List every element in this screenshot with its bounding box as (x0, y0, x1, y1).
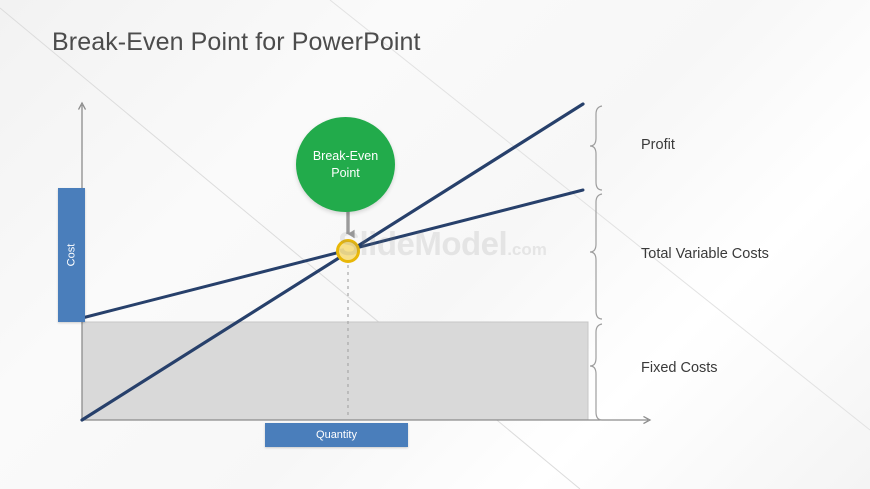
watermark-suffix: .com (507, 240, 547, 259)
x-axis-label: Quantity (316, 429, 357, 441)
watermark-text: SlideModel (338, 225, 507, 262)
callout-line-2: Point (331, 166, 360, 180)
y-axis-label: Cost (66, 244, 78, 267)
x-axis-label-bar: Quantity (265, 423, 408, 447)
bracket-profit (590, 106, 602, 190)
bracket-total-variable-costs (590, 194, 602, 319)
slide-canvas: Break-Even Point for PowerPoint (0, 0, 870, 489)
bracket-label-total-variable-costs: Total Variable Costs (641, 246, 769, 262)
y-axis-label-bar: Cost (58, 188, 85, 322)
bracket-label-fixed-costs: Fixed Costs (641, 360, 718, 376)
slidemodel-watermark: SlideModel.com (338, 225, 547, 263)
bracket-fixed-costs (590, 324, 602, 420)
bracket-label-profit: Profit (641, 137, 675, 153)
break-even-point-callout[interactable]: Break-Even Point (296, 117, 395, 212)
callout-line-1: Break-Even (313, 149, 378, 163)
